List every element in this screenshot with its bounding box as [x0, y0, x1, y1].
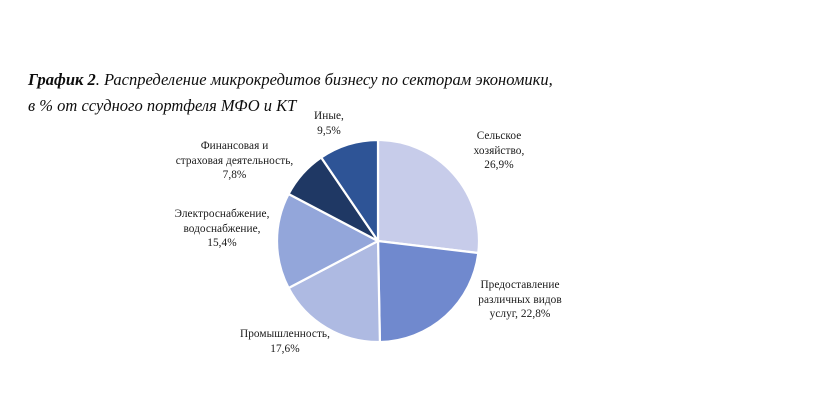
figure-caption-line1: . Распределение микрокредитов бизнесу по… — [96, 70, 553, 89]
pie-label-agriculture: Сельское хозяйство, 26,9% — [440, 129, 558, 173]
pie-label-services: Предоставление различных видов услуг, 22… — [452, 278, 588, 322]
pie-label-finance: Финансовая и страховая деятельность, 7,8… — [157, 139, 312, 183]
pie-label-other: Иные, 9,5% — [291, 109, 367, 138]
figure-caption-label: График 2 — [28, 70, 96, 89]
pie-label-utilities: Электроснабжение, водоснабжение, 15,4% — [152, 207, 292, 251]
pie-label-industry: Промышленность, 17,6% — [209, 327, 361, 356]
pie-chart: Сельское хозяйство, 26,9% Предоставление… — [0, 100, 830, 380]
